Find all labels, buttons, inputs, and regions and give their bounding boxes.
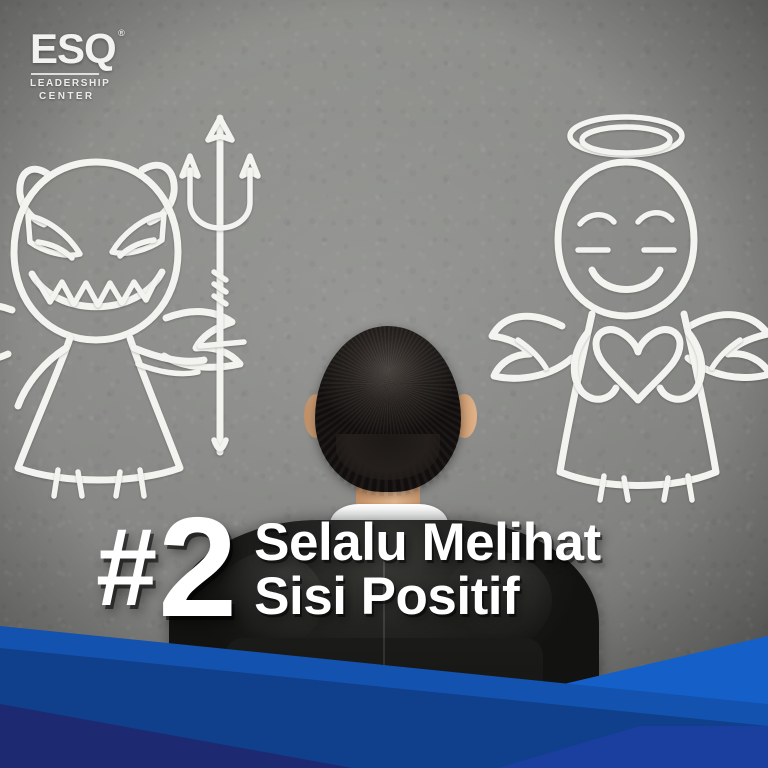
esq-logo[interactable]: ESQ ® LEADERSHIP CENTER (30, 28, 150, 103)
logo-wordmark-text: ESQ (30, 25, 116, 72)
logo-wordmark: ESQ ® (30, 28, 116, 70)
blue-geometric-banner (0, 608, 768, 768)
logo-subtitle-line-1: LEADERSHIP (30, 78, 110, 89)
logo-subtitle: LEADERSHIP CENTER (30, 78, 150, 103)
poster-canvas: # 2 Selalu Melihat Sisi Positif ESQ ® LE… (0, 0, 768, 768)
logo-divider-rule (31, 73, 99, 75)
logo-subtitle-line-2: CENTER (30, 91, 150, 104)
registered-trademark-icon: ® (118, 29, 125, 38)
